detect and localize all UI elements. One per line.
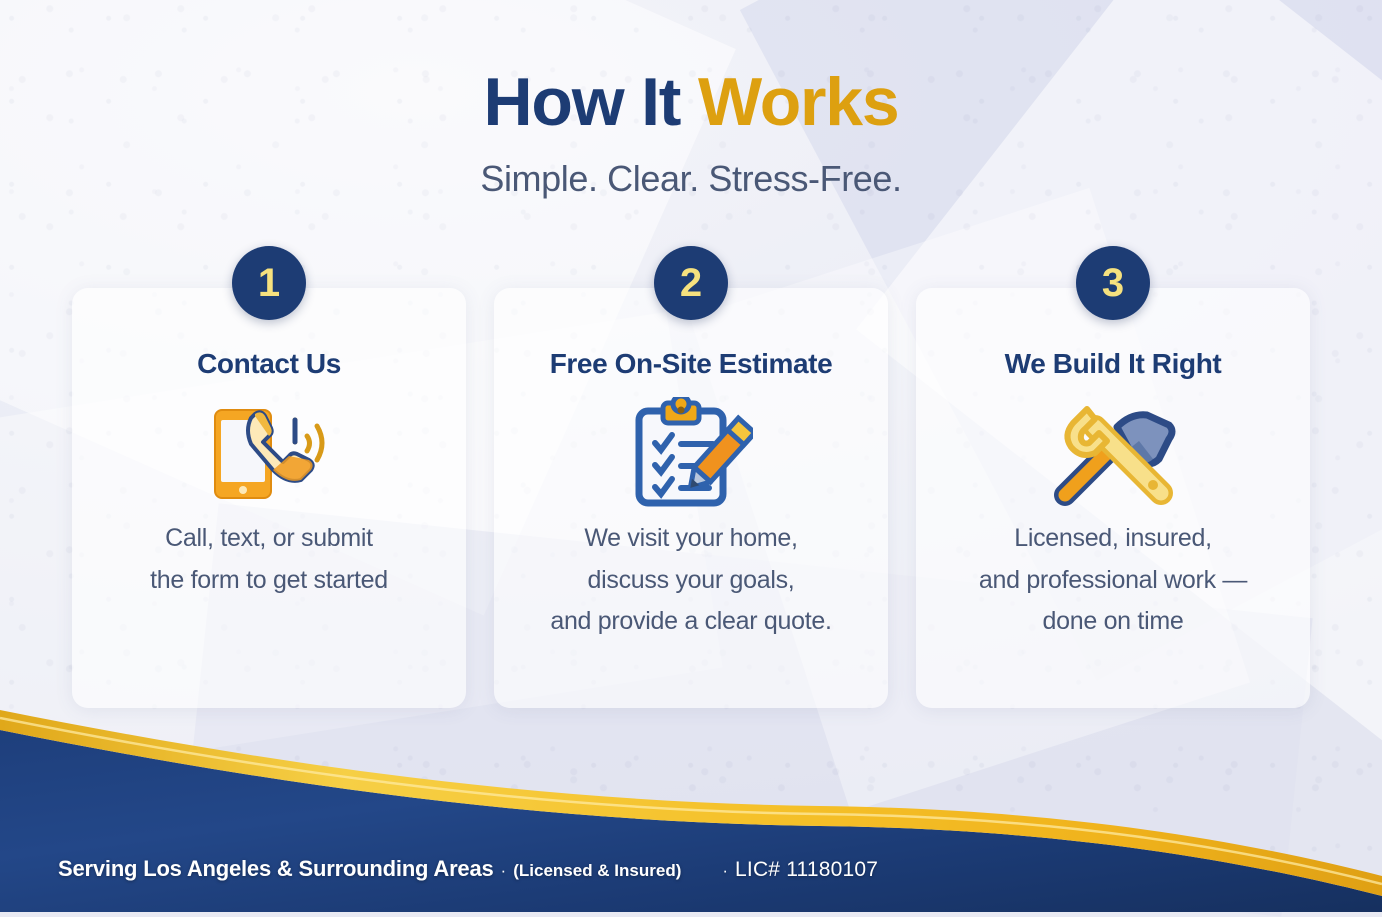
- step-title: We Build It Right: [916, 348, 1310, 380]
- step-card-free-on-site-estimate[interactable]: 2 Free On-Site Estimate: [494, 288, 888, 708]
- footer-info: Serving Los Angeles & Surrounding Areas …: [58, 856, 878, 882]
- step-description-line: discuss your goals,: [494, 560, 888, 602]
- clipboard-checklist-pencil-icon: [494, 394, 888, 512]
- page-title: How It Works: [0, 68, 1382, 136]
- page-title-primary: How It: [483, 64, 697, 140]
- step-description-line: and provide a clear quote.: [494, 601, 888, 643]
- step-card-we-build-it-right[interactable]: 3 We Build It Right: [916, 288, 1310, 708]
- step-description-line: done on time: [916, 601, 1310, 643]
- step-description-line: the form to get started: [72, 560, 466, 602]
- mobile-phone-call-icon: [72, 394, 466, 512]
- license-number-label: LIC# 11180107: [735, 858, 878, 882]
- step-description: Call, text, or submit the form to get st…: [72, 518, 466, 601]
- step-description-line: Call, text, or submit: [72, 518, 466, 560]
- step-title: Contact Us: [72, 348, 466, 380]
- hammer-and-wrench-icon: [916, 394, 1310, 512]
- service-area-label: Serving Los Angeles & Surrounding Areas: [58, 856, 494, 882]
- step-description-line: Licensed, insured,: [916, 518, 1310, 560]
- page-header: How It Works Simple. Clear. Stress-Free.: [0, 0, 1382, 200]
- footer-separator: ·: [722, 861, 728, 881]
- steps-container: 1 Contact Us: [0, 288, 1382, 708]
- step-number-badge: 3: [1076, 246, 1150, 320]
- step-number-badge: 2: [654, 246, 728, 320]
- step-title: Free On-Site Estimate: [494, 348, 888, 380]
- step-description: We visit your home, discuss your goals, …: [494, 518, 888, 643]
- page-title-accent: Works: [698, 64, 899, 140]
- licensed-insured-label: (Licensed & Insured): [513, 861, 681, 881]
- step-description: Licensed, insured, and professional work…: [916, 518, 1310, 643]
- step-card-contact-us[interactable]: 1 Contact Us: [72, 288, 466, 708]
- footer-separator: ·: [501, 861, 507, 881]
- step-description-line: We visit your home,: [494, 518, 888, 560]
- page-subtitle: Simple. Clear. Stress-Free.: [0, 158, 1382, 200]
- step-number-badge: 1: [232, 246, 306, 320]
- step-description-line: and professional work —: [916, 560, 1310, 602]
